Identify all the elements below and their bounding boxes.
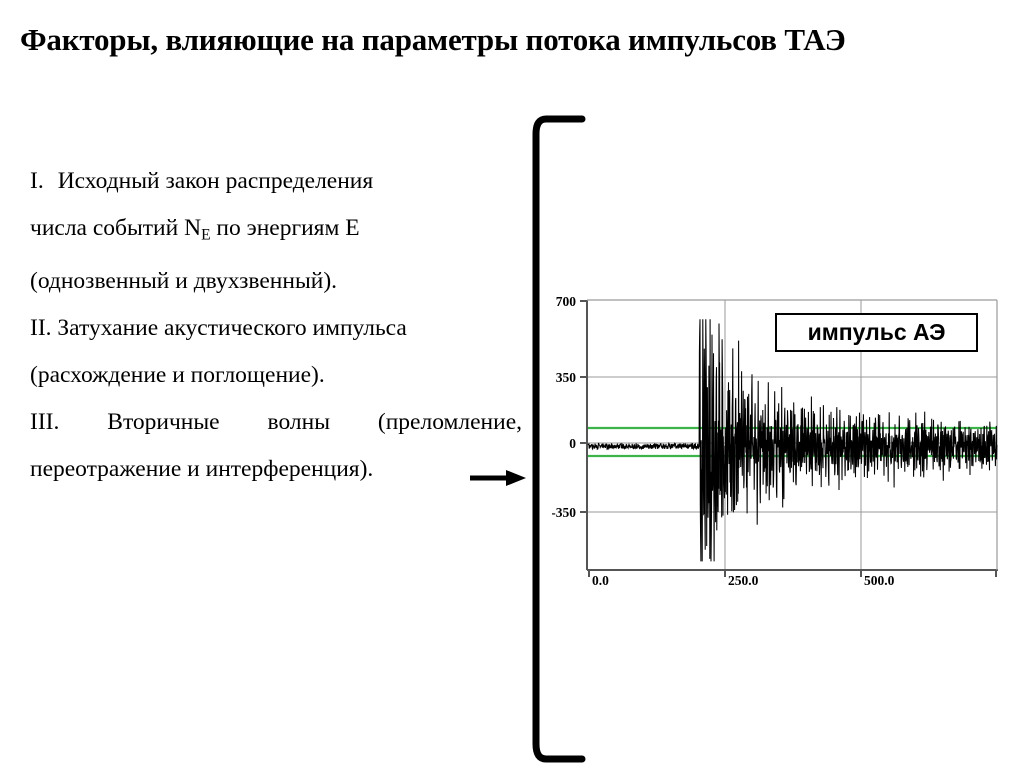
list-item-factor-2: II. Затухание акустического импульса	[30, 305, 522, 352]
right-arrow-icon	[470, 469, 526, 487]
factor-1-line2-subscript: E	[201, 226, 210, 243]
pulse-callout-label: импульс АЭ	[808, 321, 946, 344]
pulse-callout-box: импульс АЭ	[775, 313, 978, 352]
list-item-factor-3: III. Вторичные волны (преломление,	[30, 399, 522, 446]
list-item-factor-1-line3: (однозвенный и двухзвенный).	[30, 258, 522, 305]
factors-list: I.Исходный закон распределения числа соб…	[30, 158, 522, 493]
y-tick-label-minus350: -350	[552, 505, 576, 520]
list-item-factor-1-line2: числа событий NE по энергиям Е	[30, 205, 522, 258]
factor-1-marker: I.	[30, 168, 44, 194]
y-tick-label-350: 350	[556, 370, 577, 385]
list-item-factor-3-line2: переотражение и интерференция).	[30, 446, 522, 493]
factor-1-text: Исходный закон распределения	[58, 168, 374, 194]
factor-1-line2-prefix: числа событий N	[30, 215, 201, 241]
factor-1-line2-suffix: по энергиям Е	[211, 215, 360, 241]
list-item-factor-2-line2: (расхождение и поглощение).	[30, 352, 522, 399]
page-title: Факторы, влияющие на параметры потока им…	[20, 22, 1020, 58]
y-tick-label-700: 700	[556, 294, 577, 309]
x-tick-label-250: 250.0	[728, 573, 759, 588]
x-tick-label-0: 0.0	[592, 573, 609, 588]
y-tick-label-0: 0	[569, 436, 576, 451]
list-item-factor-1: I.Исходный закон распределения	[30, 158, 522, 205]
slide-canvas: Факторы, влияющие на параметры потока им…	[0, 0, 1024, 767]
waveform-trace	[588, 319, 997, 561]
x-tick-label-500: 500.0	[864, 573, 895, 588]
